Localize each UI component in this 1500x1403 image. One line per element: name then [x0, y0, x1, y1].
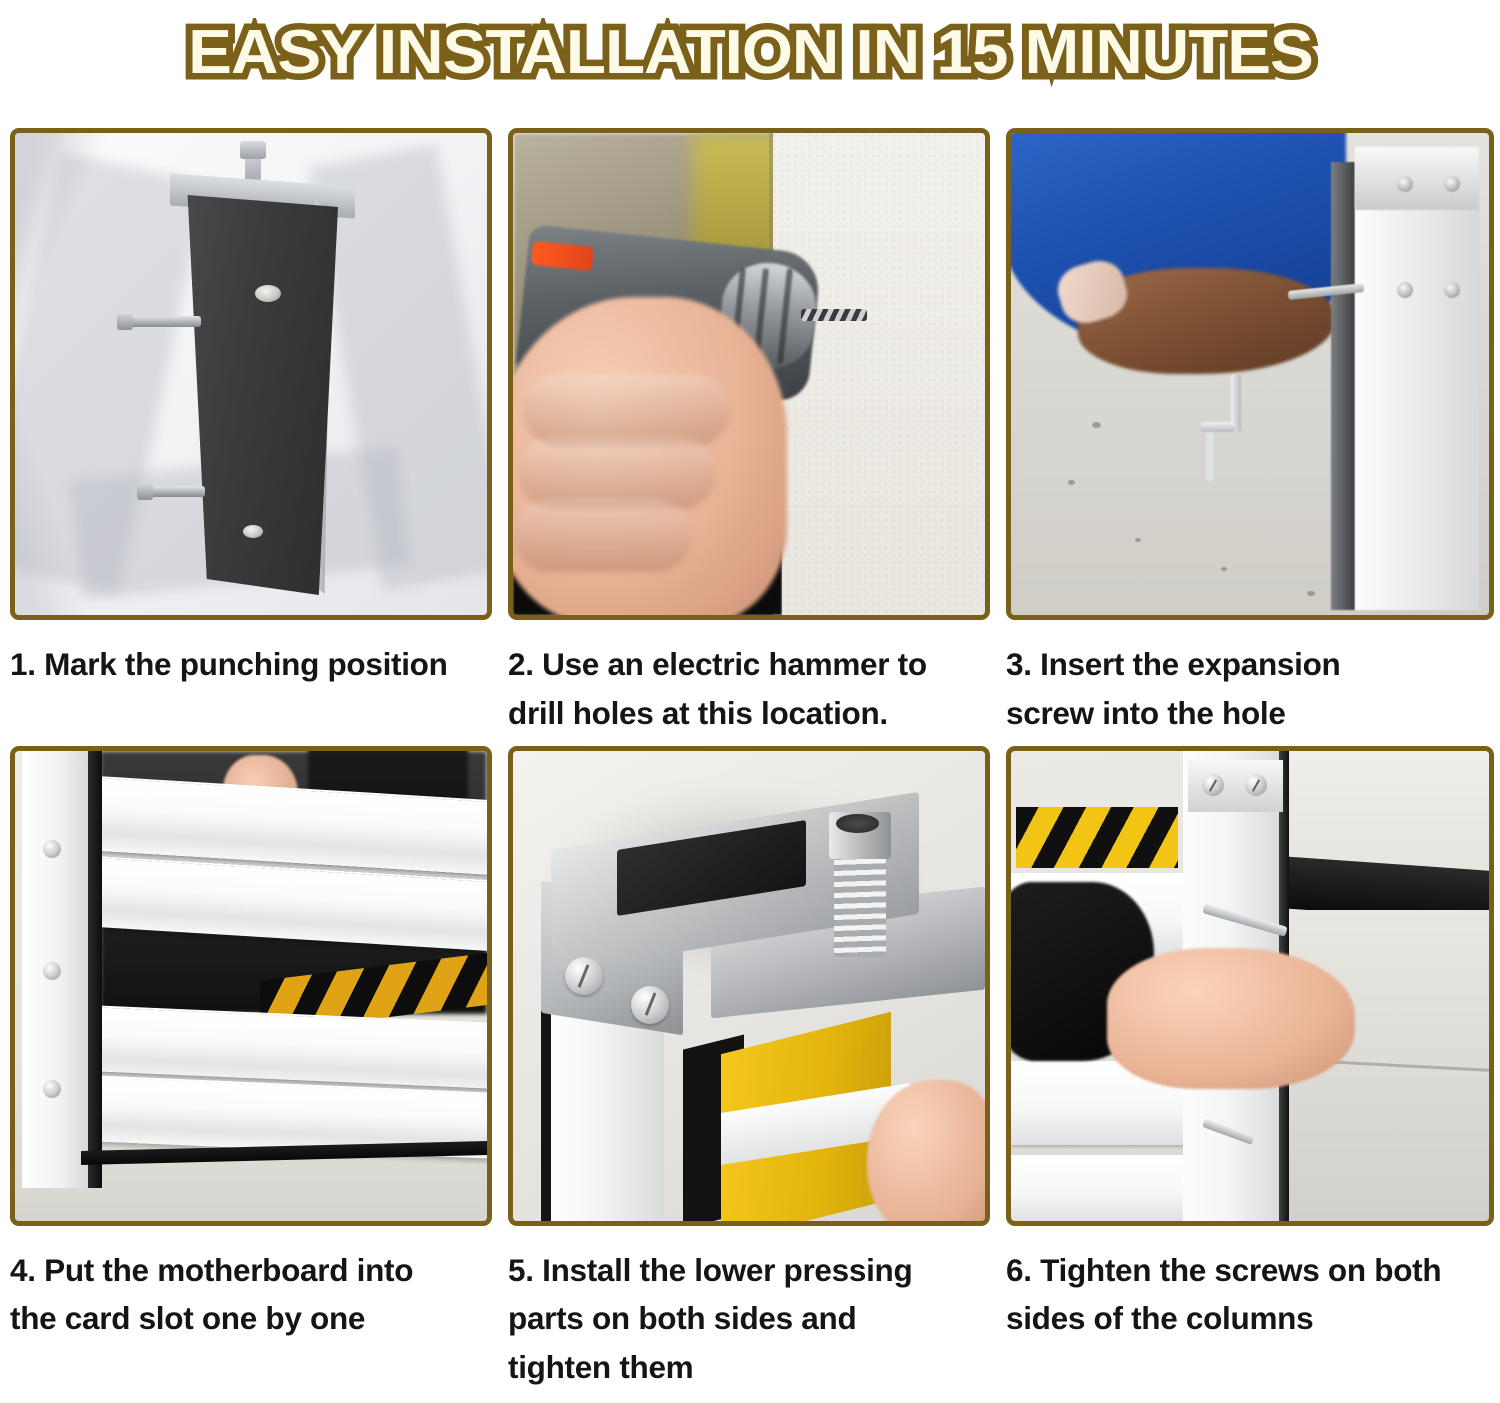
top-bolt-head: [240, 141, 266, 159]
step-5: 5. Install the lower pressing parts on b…: [508, 746, 990, 1392]
step-6-caption: 6. Tighten the screws on both sides of t…: [1006, 1246, 1494, 1344]
allen-key-on-floor: [1231, 374, 1241, 432]
step-3: 3. Insert the expansion screw into the h…: [1006, 128, 1494, 738]
tighten-screws-scene: [1011, 751, 1489, 1221]
step-1-photo: [10, 128, 492, 620]
step-1: 1. Mark the punching position: [10, 128, 492, 738]
step-1-caption: 1. Mark the punching position: [10, 640, 492, 689]
finger: [513, 499, 692, 571]
step-4-caption: 4. Put the motherboard into the card slo…: [10, 1246, 492, 1344]
installation-infographic: EASY INSTALLATION IN 15 MINUTES: [0, 0, 1500, 1403]
column-screw: [43, 1080, 61, 1098]
bracket-screw: [631, 986, 669, 1024]
column-dark-edge: [1331, 162, 1355, 610]
column-card-slot: [88, 751, 102, 1188]
finger: [518, 437, 716, 509]
step-5-photo: [508, 746, 990, 1226]
upper-pin-head: [117, 314, 133, 330]
steps-grid: 1. Mark the punching position: [10, 128, 1492, 1392]
finger: [522, 374, 730, 446]
step-2-photo: [508, 128, 990, 620]
step-5-caption: 5. Install the lower pressing parts on b…: [508, 1246, 990, 1392]
expansion-screw-scene: [1011, 133, 1489, 615]
step-6-photo: [1006, 746, 1494, 1226]
page-title: EASY INSTALLATION IN 15 MINUTES: [188, 22, 1313, 84]
bracket-screw: [1397, 176, 1413, 192]
barrier-board: [1011, 1155, 1188, 1221]
step-2: 2. Use an electric hammer to drill holes…: [508, 128, 990, 738]
step-4-photo: [10, 746, 492, 1226]
lower-pin-head: [137, 484, 153, 500]
title-banner: EASY INSTALLATION IN 15 MINUTES: [0, 0, 1500, 105]
upper-mounting-hole: [255, 285, 281, 302]
step-3-photo: [1006, 128, 1494, 620]
lower-mounting-hole: [243, 525, 263, 538]
step-2-caption: 2. Use an electric hammer to drill holes…: [508, 640, 990, 738]
bracket-screw: [1397, 282, 1413, 298]
pressing-part-scene: [513, 751, 985, 1221]
drilling-scene: [513, 133, 985, 615]
white-column: [1355, 147, 1479, 610]
step-3-caption: 3. Insert the expansion screw into the h…: [1006, 640, 1494, 738]
mounting-post-scene: [15, 133, 487, 615]
board-insertion-scene: [15, 751, 487, 1221]
step-6: 6. Tighten the screws on both sides of t…: [1006, 746, 1494, 1392]
bolt-socket-hole: [836, 814, 878, 833]
hazard-stripe: [1016, 807, 1179, 868]
column-top-bracket: [1355, 147, 1479, 210]
upper-pin: [123, 316, 201, 327]
drill-bit: [801, 309, 867, 321]
floor-speck: [1221, 567, 1227, 571]
hand-tightening-screw: [1107, 948, 1356, 1089]
step-4: 4. Put the motherboard into the card slo…: [10, 746, 492, 1392]
